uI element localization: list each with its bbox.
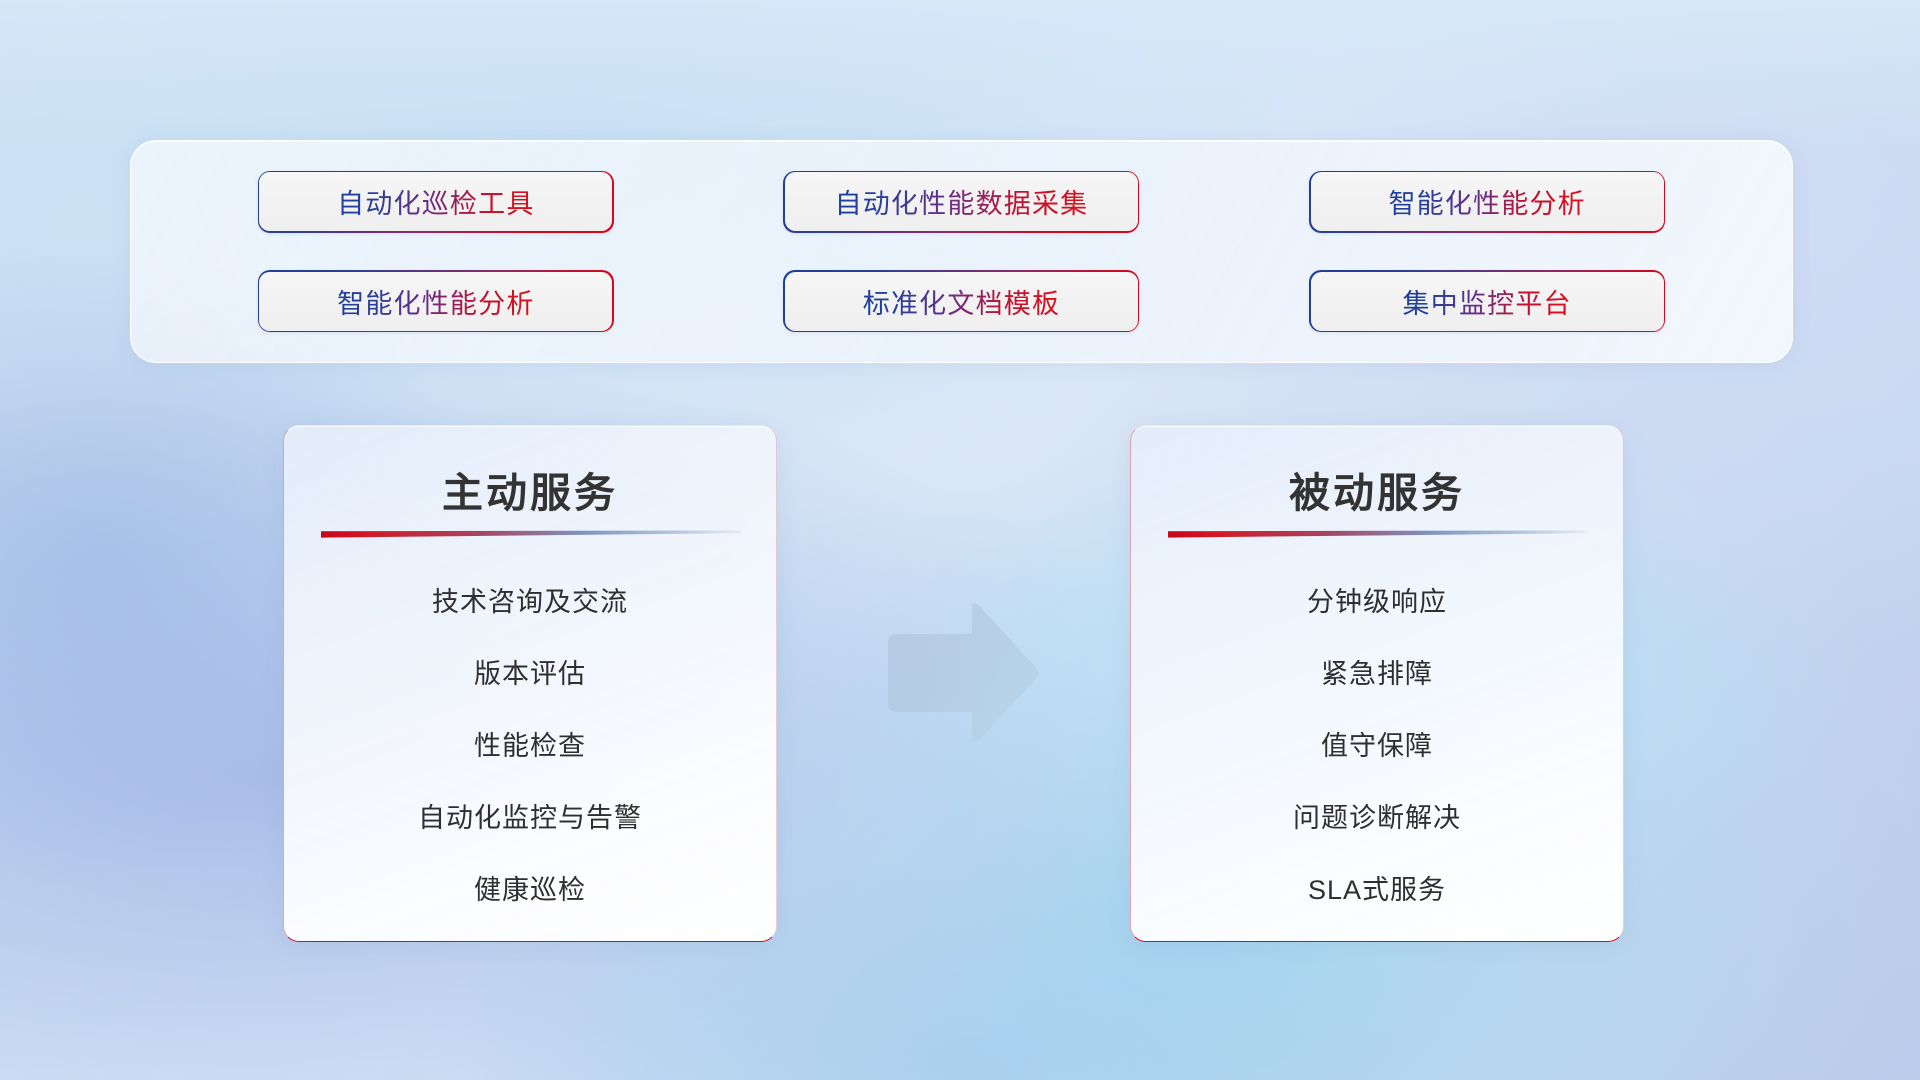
service-list-item: 技术咨询及交流: [284, 566, 776, 638]
pill-surface: 集中监控平台: [1311, 272, 1664, 331]
capability-pill-1[interactable]: 自动化巡检工具: [258, 171, 614, 233]
pill-surface: 自动化巡检工具: [259, 172, 612, 231]
service-list-item: 版本评估: [284, 638, 776, 710]
service-list-item: 问题诊断解决: [1131, 782, 1623, 854]
capability-pill-label: 标准化文档模板: [863, 282, 1060, 321]
card-title: 主动服务: [284, 459, 776, 519]
pill-surface: 自动化性能数据采集: [785, 172, 1138, 231]
service-list-item: 值守保障: [1131, 710, 1623, 782]
service-list-item: 性能检查: [284, 710, 776, 782]
card-title: 被动服务: [1131, 459, 1623, 519]
capability-pill-label: 集中监控平台: [1403, 282, 1572, 321]
pill-surface: 智能化性能分析: [259, 272, 612, 331]
capability-pill-6[interactable]: 集中监控平台: [1309, 270, 1665, 332]
service-list-item: SLA式服务: [1131, 854, 1623, 926]
capability-pill-label: 智能化性能分析: [1388, 182, 1585, 221]
service-list-item: 自动化监控与告警: [284, 782, 776, 854]
background-top-fade: [0, 0, 1920, 150]
service-list-item: 分钟级响应: [1131, 566, 1623, 638]
service-card-passive: 被动服务 分钟级响应 紧急排障 值守保障 问题诊断解决 SLA式服务: [1130, 425, 1624, 942]
service-list: 分钟级响应 紧急排障 值守保障 问题诊断解决 SLA式服务: [1131, 566, 1623, 926]
right-arrow-icon: [880, 600, 1042, 742]
card-divider-icon: [1168, 530, 1588, 539]
service-card-active: 主动服务 技术咨询及交流 版本评估 性能检查 自动化监控与告警 健康巡检: [283, 425, 777, 942]
capability-pill-2[interactable]: 自动化性能数据采集: [783, 171, 1139, 233]
capability-pill-label: 自动化巡检工具: [337, 182, 534, 221]
capability-panel: 自动化巡检工具 自动化性能数据采集 智能化性能分析 智能化性能分析 标准化文档模…: [130, 140, 1793, 363]
capability-pill-4[interactable]: 智能化性能分析: [258, 270, 614, 332]
capability-pill-label: 自动化性能数据采集: [835, 182, 1089, 221]
service-list-item: 健康巡检: [284, 854, 776, 926]
capability-pill-3[interactable]: 智能化性能分析: [1309, 171, 1665, 233]
capability-pill-label: 智能化性能分析: [337, 282, 534, 321]
card-divider-icon: [321, 530, 741, 539]
capability-pill-grid: 自动化巡检工具 自动化性能数据采集 智能化性能分析 智能化性能分析 标准化文档模…: [131, 141, 1792, 362]
service-list-item: 紧急排障: [1131, 638, 1623, 710]
capability-pill-5[interactable]: 标准化文档模板: [783, 270, 1139, 332]
pill-surface: 智能化性能分析: [1311, 172, 1664, 231]
pill-surface: 标准化文档模板: [785, 272, 1138, 331]
service-list: 技术咨询及交流 版本评估 性能检查 自动化监控与告警 健康巡检: [284, 566, 776, 926]
